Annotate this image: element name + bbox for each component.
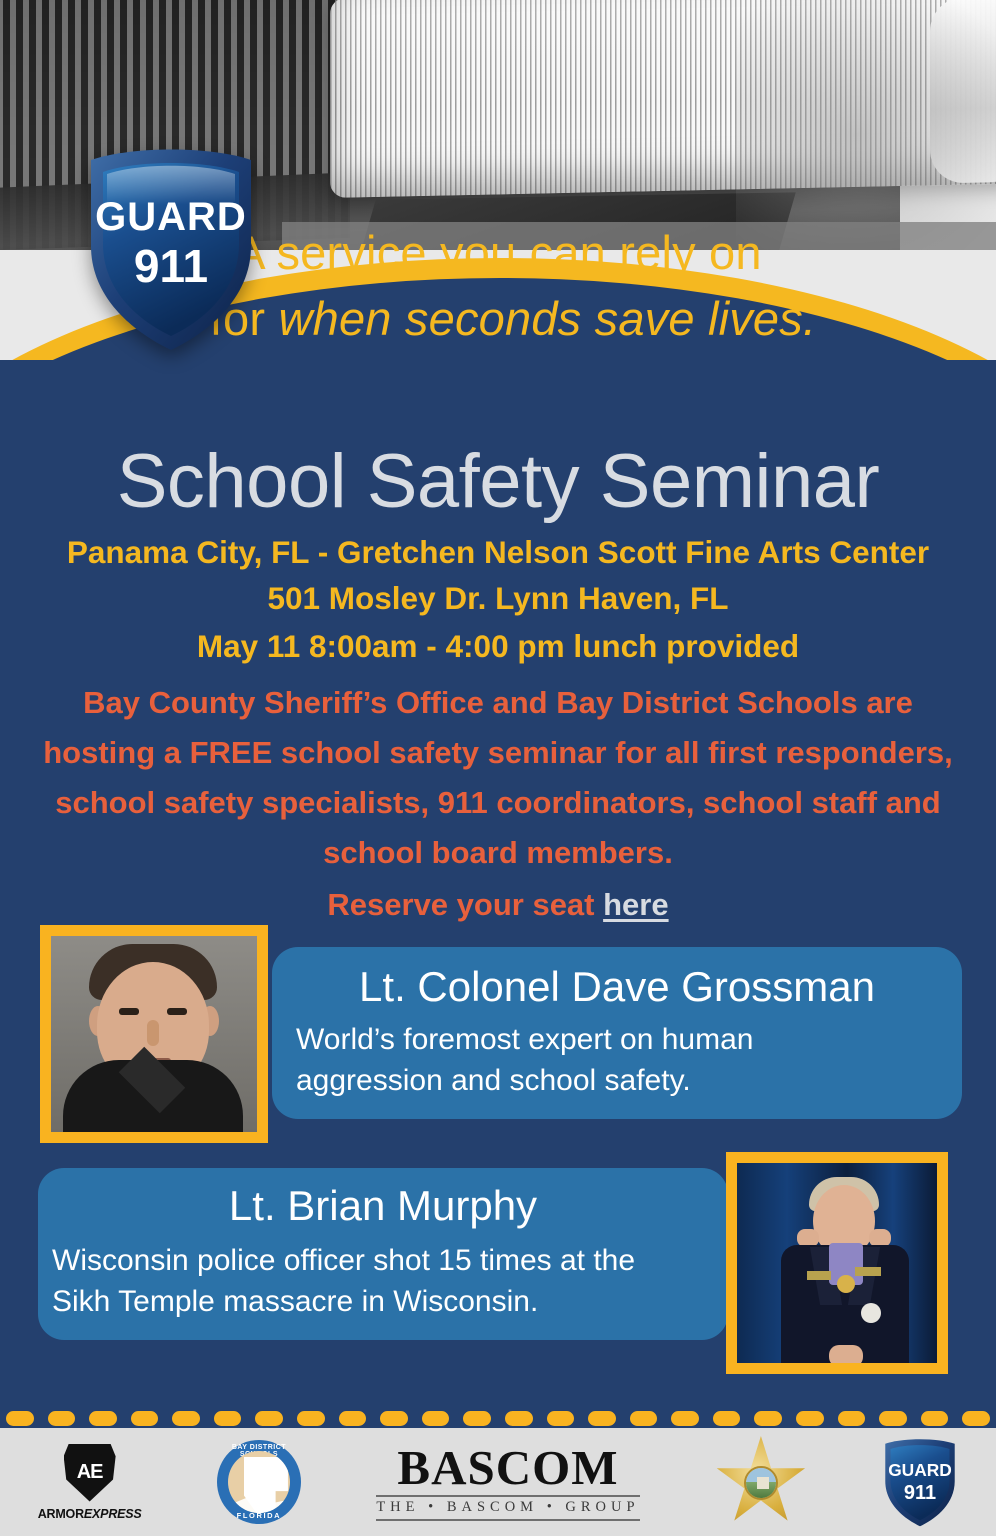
armor-express-wordmark: ARMOREXPRESS [38,1507,142,1521]
bascom-divider-rule-2 [376,1519,639,1521]
express-text: EXPRESS [84,1507,142,1521]
star-center-emblem [744,1466,778,1500]
description-line-2: hosting a FREE school safety seminar for… [43,735,953,770]
venue-line-2: 501 Mosley Dr. Lynn Haven, FL [0,575,996,621]
bascom-divider-rule [376,1495,639,1497]
page-title: School Safety Seminar [0,438,996,525]
guard-911-shield-icon: GUARD 911 [882,1436,958,1528]
bio-line-2: aggression and school safety. [296,1064,691,1097]
gold-dash-divider [0,1408,996,1428]
speaker-photo-grossman [40,925,268,1143]
guard-911-shield-logo: GUARD 911 [85,142,257,354]
venue-line-3: May 11 8:00am - 4:00 pm lunch provided [0,621,996,671]
seal-inner-disc [228,1451,290,1513]
reserve-seat-cta: Reserve your seat here [8,880,988,930]
description-line-4: school board members. [323,835,673,870]
speaker-bio-murphy: Wisconsin police officer shot 15 times a… [52,1240,742,1322]
footer-shield-text-911: 911 [904,1482,936,1504]
speaker-card-grossman: Lt. Colonel Dave Grossman World’s foremo… [0,925,996,1153]
armor-express-shield-icon: AE [64,1444,116,1502]
speaker-card-murphy: Lt. Brian Murphy Wisconsin police office… [0,1152,996,1382]
bio-line-2: Sikh Temple massacre in Wisconsin. [52,1285,538,1318]
armor-text: ARMOR [38,1507,84,1521]
sponsor-logo-guard-911: GUARD 911 [882,1436,958,1528]
description-line-1: Bay County Sheriff’s Office and Bay Dist… [83,685,913,720]
footer-shield-text-guard: GUARD [889,1460,953,1480]
reserve-seat-link[interactable]: here [603,887,668,922]
portrait-illustration [737,1163,937,1363]
speaker-photo-murphy [726,1152,948,1374]
speaker-name-murphy: Lt. Brian Murphy [38,1180,728,1232]
venue-line-1: Panama City, FL - Gretchen Nelson Scott … [0,530,996,575]
bay-district-schools-seal-icon: BAY DISTRICT SCHOOLS FLORIDA [217,1440,301,1524]
bio-line-1: Wisconsin police officer shot 15 times a… [52,1244,635,1277]
sponsor-logo-armor-express: AE ARMOREXPRESS [38,1444,142,1521]
sponsor-logo-bascom: BASCOM THE • BASCOM • GROUP [376,1443,639,1521]
seal-ring-text-bottom: FLORIDA [217,1511,301,1520]
sponsor-logo-bay-district-schools: BAY DISTRICT SCHOOLS FLORIDA [217,1440,301,1524]
tagline-italic: when seconds save lives. [278,292,816,345]
armor-express-monogram: AE [77,1461,103,1484]
bascom-subtitle: THE • BASCOM • GROUP [376,1499,639,1516]
sponsor-logo-bay-county-sheriff [715,1436,807,1528]
shield-text-911: 911 [134,240,208,292]
description-line-3: school safety specialists, 911 coordinat… [55,785,941,820]
event-description-block: Bay County Sheriff’s Office and Bay Dist… [8,678,988,930]
sponsor-footer: AE ARMOREXPRESS BAY DISTRICT SCHOOLS FLO… [0,1428,996,1536]
bascom-wordmark: BASCOM [397,1443,618,1493]
event-venue-block: Panama City, FL - Gretchen Nelson Scott … [0,530,996,671]
speaker-name-grossman: Lt. Colonel Dave Grossman [272,961,962,1013]
portrait-illustration [51,936,257,1132]
reserve-seat-text: Reserve your seat [327,887,603,922]
flyer-poster: A service you can rely on for when secon… [0,0,996,1536]
sheriff-star-badge-icon [715,1436,807,1528]
shield-text-guard: GUARD [95,195,247,239]
bio-line-1: World’s foremost expert on human [296,1023,753,1056]
tagline-line-1: A service you can rely on [234,226,762,279]
speaker-bio-grossman: World’s foremost expert on human aggress… [296,1019,936,1101]
